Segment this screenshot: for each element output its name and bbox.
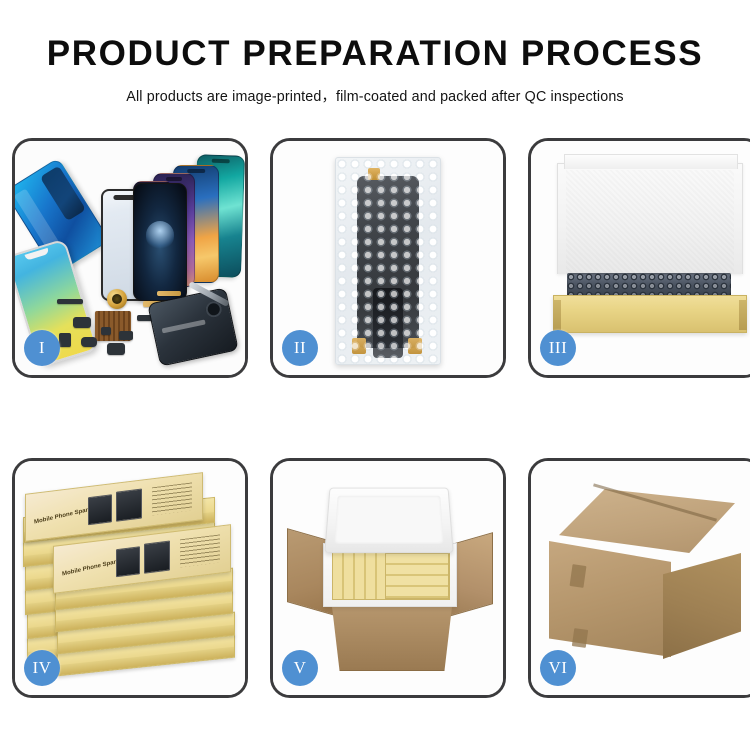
box-print-spec-lines-2 bbox=[180, 534, 220, 567]
process-step-card-6: VI bbox=[528, 458, 750, 698]
small-part-bracket bbox=[57, 299, 83, 304]
kraft-box-tray bbox=[553, 295, 747, 333]
step-badge-1: I bbox=[24, 330, 60, 366]
step-2-image: II bbox=[273, 141, 503, 375]
step-badge-2: II bbox=[282, 330, 318, 366]
small-part-speaker bbox=[81, 337, 97, 347]
box-print-swatch-4 bbox=[144, 541, 170, 574]
small-part-button bbox=[59, 333, 71, 347]
process-steps-grid: I II III bbox=[12, 138, 738, 698]
carton-side-panel bbox=[663, 553, 741, 659]
carton-tape-lower bbox=[572, 628, 588, 648]
page-subtitle: All products are image-printed，film-coat… bbox=[0, 85, 750, 106]
small-part-shield bbox=[119, 331, 133, 340]
step-badge-4: IV bbox=[24, 650, 60, 686]
box-print-swatch-2 bbox=[116, 489, 142, 522]
carton-front-panel bbox=[549, 541, 671, 657]
step-badge-6: VI bbox=[540, 650, 576, 686]
flex-cable-part-2 bbox=[157, 291, 181, 296]
page-header: PRODUCT PREPARATION PROCESS All products… bbox=[0, 0, 750, 106]
bubble-wrap-bag bbox=[335, 157, 441, 365]
gold-coil-part bbox=[107, 289, 127, 309]
open-export-carton bbox=[287, 479, 493, 683]
bubble-wrapped-product-in-box bbox=[567, 273, 731, 297]
step-5-image: V bbox=[273, 461, 503, 695]
sealed-shipping-carton bbox=[547, 489, 745, 665]
box-print-spec-lines-1 bbox=[152, 482, 192, 515]
jellyfish-wallpaper bbox=[146, 221, 174, 249]
stacked-kraft-boxes: Mobile Phone Spare Parts Mobile Phone Sp… bbox=[23, 477, 237, 683]
step-badge-3: III bbox=[540, 330, 576, 366]
box-print-swatch-3 bbox=[116, 546, 140, 577]
step-4-image: Mobile Phone Spare Parts Mobile Phone Sp… bbox=[15, 461, 245, 695]
step-3-image: III bbox=[531, 141, 750, 375]
wrapped-flex-ribbon bbox=[373, 288, 403, 358]
process-step-card-4: Mobile Phone Spare Parts Mobile Phone Sp… bbox=[12, 458, 248, 698]
step-1-image: I bbox=[15, 141, 245, 375]
step-badge-5: V bbox=[282, 650, 318, 686]
foam-insert-lid bbox=[324, 488, 454, 553]
housing-highlight bbox=[162, 319, 206, 333]
small-part-screw-plate bbox=[101, 327, 111, 335]
tape-piece-left bbox=[352, 338, 366, 354]
phone-display-jellyfish bbox=[133, 183, 187, 301]
process-step-card-1: I bbox=[12, 138, 248, 378]
white-box-lid bbox=[557, 163, 743, 274]
kraft-boxes-inside-foam bbox=[332, 550, 450, 600]
page-title: PRODUCT PREPARATION PROCESS bbox=[0, 36, 750, 73]
process-step-card-3: III bbox=[528, 138, 750, 378]
step-6-image: VI bbox=[531, 461, 750, 695]
tape-piece-right bbox=[408, 338, 422, 354]
box-print-swatch-1 bbox=[88, 494, 112, 525]
tape-piece-top bbox=[368, 168, 380, 180]
small-part-connector bbox=[73, 317, 91, 328]
process-step-card-2: II bbox=[270, 138, 506, 378]
small-part-camera-module bbox=[107, 343, 125, 355]
process-step-card-5: V bbox=[270, 458, 506, 698]
kraft-boxes-flat-layer bbox=[385, 553, 449, 599]
